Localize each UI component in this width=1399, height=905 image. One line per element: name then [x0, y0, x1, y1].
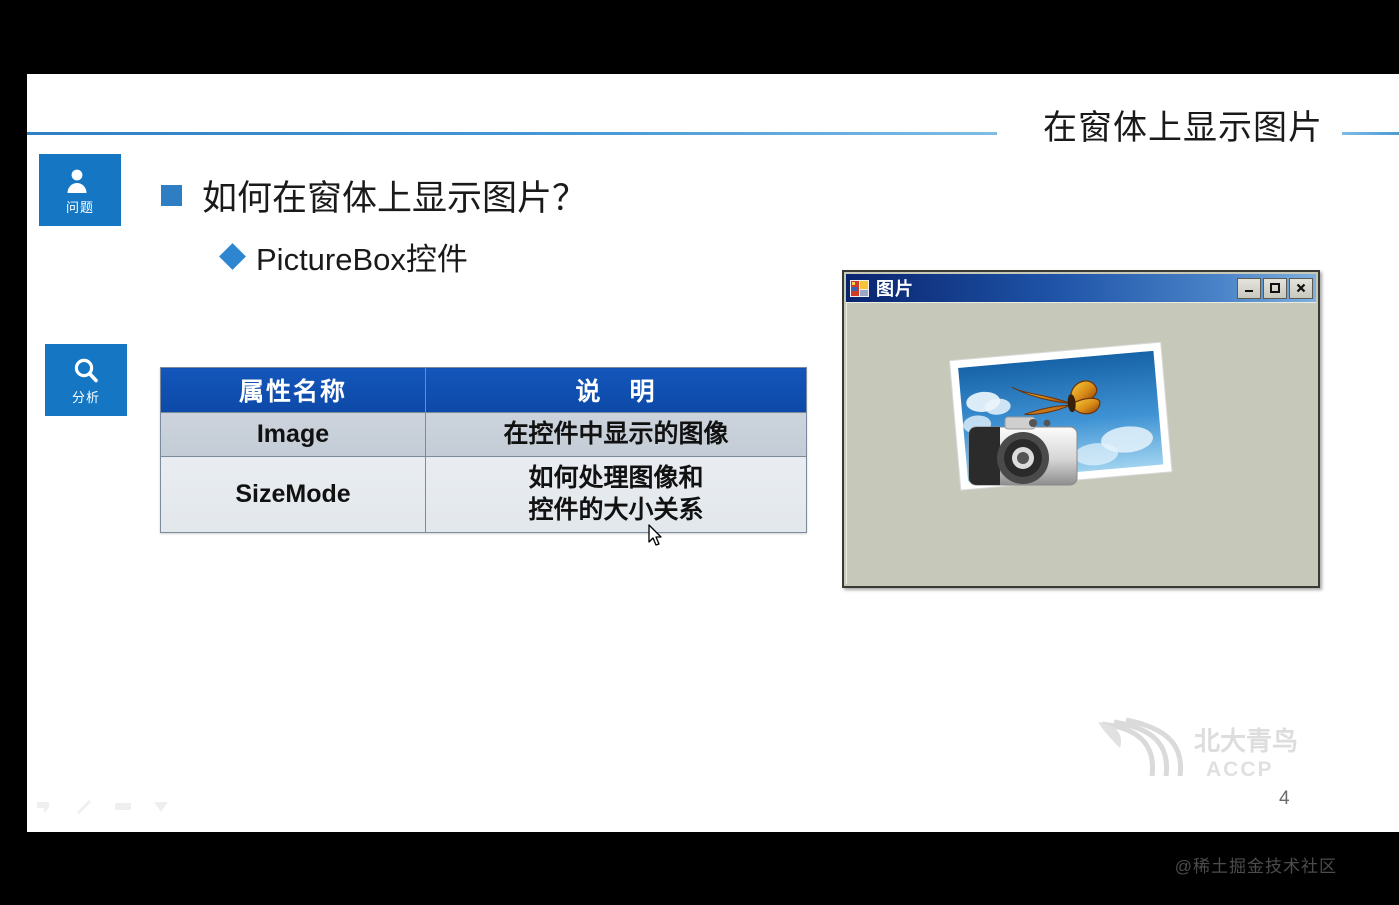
picture-window: 图片 [842, 270, 1320, 588]
picture-app-icon [850, 280, 869, 297]
window-title: 图片 [876, 275, 1237, 301]
eraser-icon[interactable] [112, 796, 134, 816]
header-divider-left [27, 132, 997, 135]
table-header-row: 属性名称 说 明 [161, 368, 807, 413]
table-cell-property-name: Image [161, 413, 426, 457]
header-divider-right [1342, 132, 1399, 135]
square-bullet-icon [161, 185, 182, 206]
table-row: Image 在控件中显示的图像 [161, 413, 807, 457]
main-bullet-text: 如何在窗体上显示图片？ [202, 170, 587, 221]
description-line: 如何处理图像和 [426, 463, 806, 494]
sub-bullet: PictureBox控件 [223, 234, 468, 279]
slideshow-toolbar [34, 796, 173, 816]
window-body [846, 302, 1316, 584]
pointer-icon[interactable] [151, 796, 173, 816]
diamond-bullet-icon [219, 243, 246, 270]
badge-question: 问题 [39, 154, 121, 226]
table-cell-description: 如何处理图像和 控件的大小关系 [426, 457, 807, 533]
window-titlebar[interactable]: 图片 [846, 274, 1316, 302]
badge-question-label: 问题 [66, 201, 94, 214]
description-line: 控件的大小关系 [426, 495, 806, 526]
pen-icon[interactable] [73, 796, 95, 816]
badge-analysis-label: 分析 [72, 391, 100, 404]
table-row: SizeMode 如何处理图像和 控件的大小关系 [161, 457, 807, 533]
window-controls [1237, 278, 1313, 299]
sub-bullet-text: PictureBox控件 [256, 234, 468, 279]
property-table: 属性名称 说 明 Image 在控件中显示的图像 SizeMode 如何处理图像… [160, 367, 807, 533]
main-bullet: 如何在窗体上显示图片？ [161, 170, 587, 221]
table-cell-property-name: SizeMode [161, 457, 426, 533]
close-button[interactable] [1289, 278, 1313, 299]
logo-en-text: ACCP [1206, 758, 1274, 781]
watermark: @稀土掘金技术社区 [1175, 852, 1337, 877]
photo-camera-icon [943, 341, 1183, 516]
table-header-desc: 说 明 [426, 368, 807, 413]
pen-left-icon[interactable] [34, 796, 56, 816]
logo-cn-text: 北大青鸟 [1194, 726, 1298, 756]
page-title: 在窗体上显示图片 [1043, 100, 1323, 149]
description-line: 在控件中显示的图像 [426, 419, 806, 450]
table-cell-description: 在控件中显示的图像 [426, 413, 807, 457]
screen: 在窗体上显示图片 问题 分析 [0, 0, 1399, 905]
page-number: 4 [1279, 788, 1290, 810]
magnifier-icon [71, 357, 101, 390]
table-header-name: 属性名称 [161, 368, 426, 413]
maximize-button[interactable] [1263, 278, 1287, 299]
minimize-button[interactable] [1237, 278, 1261, 299]
person-question-icon [65, 167, 95, 200]
slide-canvas: 在窗体上显示图片 问题 分析 [27, 74, 1399, 832]
brand-logo: 北大青鸟 ACCP [1090, 714, 1335, 786]
badge-analysis: 分析 [45, 344, 127, 416]
